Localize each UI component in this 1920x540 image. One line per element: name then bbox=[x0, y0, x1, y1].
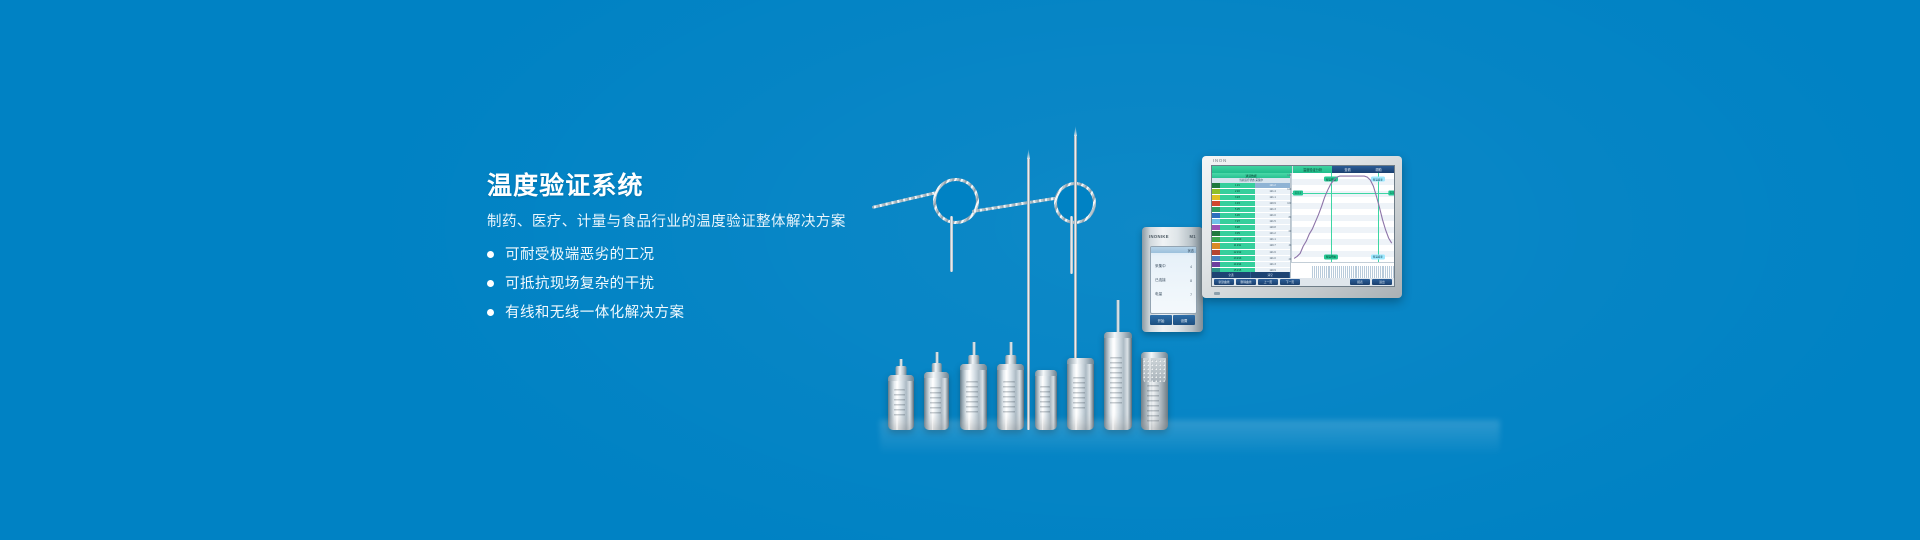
next-page-button[interactable]: 下一页 bbox=[1280, 279, 1300, 285]
y-tick: 60 bbox=[1289, 230, 1292, 233]
needle-probe-tall-1 bbox=[1027, 158, 1030, 430]
feature-label: 有线和无线一体化解决方案 bbox=[505, 304, 684, 322]
toolbar-help-button[interactable]: 帮助 bbox=[1363, 166, 1394, 173]
coiled-cable-sensor-1 bbox=[933, 178, 979, 224]
color-swatch bbox=[1212, 225, 1220, 230]
cell-channel: 9 #9 bbox=[1220, 231, 1255, 236]
handheld-brand-label: INONIKE bbox=[1149, 234, 1169, 239]
color-swatch bbox=[1212, 207, 1220, 212]
color-swatch bbox=[1212, 183, 1220, 188]
cell-channel: 10 #10 bbox=[1220, 237, 1255, 242]
hero-subtitle: 制药、医疗、计量与食品行业的温度验证整体解决方案 bbox=[487, 213, 917, 232]
channel-table[interactable]: 通道数据 当前运行状态 采集中 1 #1 121.2 2 bbox=[1212, 173, 1291, 278]
list-item: 已连接 8 bbox=[1155, 278, 1192, 283]
monitor-toolbar[interactable]: 温度验证分析 查看 帮助 bbox=[1212, 166, 1394, 173]
list-item: 电量 7 bbox=[1155, 292, 1192, 297]
engraved-label bbox=[1003, 381, 1015, 413]
data-logger-4 bbox=[997, 364, 1024, 430]
handheld-button-row[interactable]: 开始 设置 bbox=[1150, 315, 1195, 325]
hero-copy-block: 温度验证系统 制药、医疗、计量与食品行业的温度验证整体解决方案 可耐受极端恶劣的… bbox=[487, 172, 917, 333]
data-logger-1 bbox=[888, 375, 914, 430]
coiled-cable-sensor-1-drop bbox=[950, 216, 953, 272]
bullet-dot-icon bbox=[487, 309, 494, 316]
coiled-cable-sensor-2-lead bbox=[972, 196, 1063, 213]
y-tick: 140 bbox=[1287, 174, 1291, 177]
cell-channel: 2 #2 bbox=[1220, 189, 1255, 194]
y-tick: 20 bbox=[1289, 258, 1292, 261]
cell-channel: 7 #7 bbox=[1220, 219, 1255, 224]
handheld-brand-row: INONIKE M1 bbox=[1142, 234, 1203, 239]
monitor-brand-label: INON bbox=[1213, 158, 1227, 163]
handheld-terminal[interactable]: INONIKE M1 状态 采集中 4 已连接 8 bbox=[1142, 227, 1203, 332]
cell-channel: 5 #5 bbox=[1220, 207, 1255, 212]
validation-monitor: INON 温度验证分析 查看 帮助 通道数据 当前运行状态 采集中 bbox=[1202, 156, 1402, 298]
feature-list: 可耐受极端恶劣的工况 可抵抗现场复杂的干扰 有线和无线一体化解决方案 bbox=[487, 246, 917, 322]
readout-value: 8 bbox=[1190, 279, 1192, 283]
cell-channel: 8 #8 bbox=[1220, 225, 1255, 230]
engraved-label bbox=[966, 381, 978, 413]
list-item: 有线和无线一体化解决方案 bbox=[487, 304, 917, 322]
temperature-curve bbox=[1292, 173, 1394, 275]
cell-channel: 6 #6 bbox=[1220, 213, 1255, 218]
probe-cap bbox=[931, 363, 942, 372]
coiled-cable-sensor-1-lead bbox=[872, 190, 941, 209]
handheld-model-label: M1 bbox=[1189, 234, 1196, 239]
handheld-screen[interactable]: 状态 采集中 4 已连接 8 电量 7 bbox=[1150, 246, 1197, 314]
engraved-label bbox=[930, 387, 941, 415]
cell-channel: 11 #11 bbox=[1220, 243, 1255, 248]
color-swatch bbox=[1212, 237, 1220, 242]
color-swatch bbox=[1212, 243, 1220, 248]
color-swatch bbox=[1212, 262, 1220, 267]
color-swatch bbox=[1212, 219, 1220, 224]
chart-y-axis: 140 120 100 80 60 40 20 bbox=[1283, 173, 1292, 262]
engraved-label bbox=[1073, 377, 1085, 412]
data-logger-7 bbox=[1104, 332, 1132, 430]
monitor-body: 通道数据 当前运行状态 采集中 1 #1 121.2 2 bbox=[1212, 173, 1394, 278]
color-swatch bbox=[1212, 189, 1220, 194]
cell-channel: 13 #13 bbox=[1220, 256, 1255, 261]
cell-channel: 4 #4 bbox=[1220, 201, 1255, 206]
new-curve-button[interactable]: 新建曲线 bbox=[1214, 279, 1234, 285]
bullet-dot-icon bbox=[487, 280, 494, 287]
y-tick: 40 bbox=[1289, 244, 1292, 247]
engraved-label bbox=[1040, 386, 1050, 415]
button-bar-spacer bbox=[1302, 279, 1348, 285]
bullet-dot-icon bbox=[487, 251, 494, 258]
delete-curve-button[interactable]: 删除曲线 bbox=[1236, 279, 1256, 285]
handheld-start-button[interactable]: 开始 bbox=[1150, 315, 1172, 325]
cell-value: 121.3 bbox=[1255, 262, 1290, 267]
data-logger-2 bbox=[924, 372, 949, 430]
coiled-cable-sensor-2-drop bbox=[1070, 216, 1073, 274]
readout-key: 电量 bbox=[1155, 292, 1162, 297]
probe-cap bbox=[896, 366, 907, 375]
color-swatch bbox=[1212, 250, 1220, 255]
temperature-chart[interactable]: 140 120 100 80 60 40 20 bbox=[1291, 173, 1394, 262]
color-swatch bbox=[1212, 195, 1220, 200]
probe-cap bbox=[968, 355, 979, 364]
feature-label: 可抵抗现场复杂的干扰 bbox=[505, 275, 655, 293]
readout-value: 4 bbox=[1190, 265, 1192, 269]
engraved-label bbox=[894, 389, 905, 415]
data-logger-5 bbox=[1035, 370, 1057, 430]
toolbar-segment-left bbox=[1212, 166, 1293, 173]
product-cluster: INONIKE M1 状态 采集中 4 已连接 8 bbox=[880, 120, 1500, 430]
readout-key: 采集中 bbox=[1155, 264, 1166, 269]
engraved-label bbox=[1110, 357, 1122, 404]
handheld-titlebar-label: 状态 bbox=[1188, 248, 1194, 253]
cell-channel: 14 #14 bbox=[1220, 262, 1255, 267]
engraved-label bbox=[1147, 385, 1159, 422]
monitor-indicator bbox=[1214, 292, 1220, 295]
toolbar-view-button[interactable]: 查看 bbox=[1332, 166, 1363, 173]
color-swatch bbox=[1212, 201, 1220, 206]
readout-key: 已连接 bbox=[1155, 278, 1166, 283]
y-tick: 100 bbox=[1287, 202, 1291, 205]
cell-channel: 3 #3 bbox=[1220, 195, 1255, 200]
color-swatch bbox=[1212, 213, 1220, 218]
probe-cap bbox=[1005, 355, 1016, 364]
monitor-button-bar[interactable]: 新建曲线 删除曲线 上一页 下一页 报表 退出 bbox=[1212, 278, 1394, 286]
data-logger-6 bbox=[1067, 358, 1094, 430]
probe-stem bbox=[1117, 300, 1120, 332]
sintered-filter-cap bbox=[1143, 356, 1167, 382]
cell-channel: 12 #12 bbox=[1220, 250, 1255, 255]
monitor-screen[interactable]: 温度验证分析 查看 帮助 通道数据 当前运行状态 采集中 1 #1 bbox=[1211, 165, 1395, 287]
y-tick: 80 bbox=[1289, 216, 1292, 219]
readout-value: 7 bbox=[1190, 293, 1192, 297]
exit-button[interactable]: 退出 bbox=[1372, 279, 1392, 285]
data-logger-3 bbox=[960, 364, 987, 430]
handheld-settings-button[interactable]: 设置 bbox=[1173, 315, 1195, 325]
y-tick: 120 bbox=[1287, 188, 1291, 191]
report-button[interactable]: 报表 bbox=[1350, 279, 1370, 285]
feature-label: 可耐受极端恶劣的工况 bbox=[505, 246, 655, 264]
list-item: 采集中 4 bbox=[1155, 264, 1192, 269]
prev-page-button[interactable]: 上一页 bbox=[1258, 279, 1278, 285]
monitor-bezel: INON 温度验证分析 查看 帮助 通道数据 当前运行状态 采集中 bbox=[1202, 156, 1402, 298]
cell-channel: 1 #1 bbox=[1220, 183, 1255, 188]
chart-panel: 140 120 100 80 60 40 20 bbox=[1291, 173, 1394, 278]
list-item: 可耐受极端恶劣的工况 bbox=[487, 246, 917, 264]
list-item: 可抵抗现场复杂的干扰 bbox=[487, 275, 917, 293]
handheld-readout-list: 采集中 4 已连接 8 电量 7 bbox=[1151, 253, 1196, 297]
color-swatch bbox=[1212, 256, 1220, 261]
hero-banner: 温度验证系统 制药、医疗、计量与食品行业的温度验证整体解决方案 可耐受极端恶劣的… bbox=[0, 0, 1920, 540]
data-logger-mesh bbox=[1141, 352, 1168, 430]
table-body[interactable]: 1 #1 121.2 2 #2 121.4 bbox=[1212, 183, 1290, 273]
page-title: 温度验证系统 bbox=[487, 172, 917, 201]
color-swatch bbox=[1212, 231, 1220, 236]
toolbar-title: 温度验证分析 bbox=[1293, 166, 1332, 173]
